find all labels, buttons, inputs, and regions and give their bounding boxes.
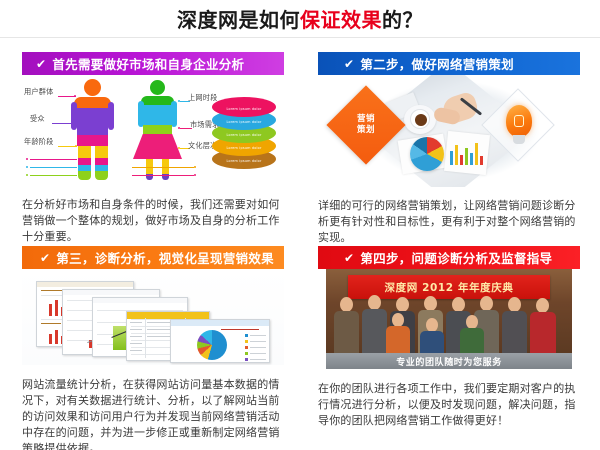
panel-2-artwork: 营销 策划	[318, 75, 580, 187]
disc-layer: Lorem ipsum dolor	[212, 97, 276, 117]
figure-skirt	[133, 134, 182, 159]
leader-line	[30, 159, 77, 160]
pie-chart-icon	[197, 330, 227, 360]
disc-label: Lorem ipsum dolor	[226, 159, 261, 163]
window-titlebar	[63, 290, 159, 295]
panel-3-artwork	[22, 269, 284, 365]
figure-leg-seg	[95, 171, 108, 180]
leader-dot	[26, 174, 28, 176]
page-title: 深度网是如何保证效果的？	[0, 0, 600, 37]
panel-1-body: 在分析好市场和自身条件的时候，我们还需要对如何营销做一个整体的规划，做好市场及自…	[22, 197, 284, 245]
disc-label: Lorem ipsum dolor	[226, 120, 261, 124]
panel-4-header-label: 第四步，问题诊断分析及监督指导	[360, 248, 552, 267]
window-titlebar	[127, 312, 209, 319]
panel-marketing-planning: ✔ 第二步，做好网络营销策划	[318, 52, 580, 237]
figure-leg-seg	[95, 146, 108, 158]
leader-line	[132, 175, 194, 176]
report-windows	[22, 269, 284, 365]
page-title-prefix: 深度网是如何	[177, 8, 300, 32]
figure-torso	[77, 108, 108, 135]
leader-dot	[74, 95, 76, 97]
figure-leg-seg	[78, 171, 91, 180]
panel-3-header: ✔ 第三，诊断分析，视觉化呈现营销效果	[22, 246, 284, 269]
figure-hip	[77, 135, 108, 146]
figure-head	[150, 80, 165, 95]
window-titlebar	[171, 320, 269, 326]
panel-diagnostic-analysis: ✔ 第三，诊断分析，视觉化呈现营销效果	[22, 246, 284, 444]
panel-2-body: 详细的可行的网络营销策划，让网络营销问题诊断分析更有针对性和目标性，更有利于对整…	[318, 198, 580, 246]
figure-leg-seg	[78, 158, 91, 165]
panel-2-header-label: 第二步，做好网络营销策划	[360, 54, 514, 73]
leader-dot	[194, 174, 196, 176]
panel-market-analysis: ✔ 首先需要做好市场和自身企业分析 用户群体 受众 年龄阶段	[22, 52, 284, 237]
mini-bar-chart	[450, 139, 486, 165]
label-age-stage: 年龄阶段	[24, 137, 54, 147]
photo-caption-text: 专业的团队随时为您服务	[396, 355, 502, 368]
leader-dot	[26, 158, 28, 160]
celebration-banner: 深度网 2012 年年度庆典	[348, 275, 550, 299]
check-icon: ✔	[344, 252, 354, 264]
badge-line-1: 营销	[357, 114, 375, 125]
audience-infographic: 用户群体 受众 年龄阶段	[22, 75, 284, 185]
figure-head	[84, 79, 101, 96]
badge-line-2: 策划	[357, 125, 375, 136]
figure-torso	[143, 105, 172, 125]
leader-line	[30, 175, 77, 176]
photo-caption-bar: 专业的团队随时为您服务	[326, 353, 572, 369]
leader-dot	[26, 166, 28, 168]
pie-chart-icon	[410, 137, 444, 171]
panel-3-header-label: 第三，诊断分析，视觉化呈现营销效果	[56, 248, 274, 267]
lightbulb-icon	[506, 105, 532, 137]
figure-leg-seg	[95, 158, 108, 165]
check-icon: ✔	[40, 252, 50, 264]
disc-label: Lorem ipsum dolor	[226, 107, 261, 111]
page-title-suffix: 的？	[382, 8, 423, 32]
title-divider	[0, 37, 600, 38]
panel-4-body: 在你的团队进行各项工作中，我们要定期对客户的执行情况进行分析，以便及时发现问题，…	[318, 381, 580, 429]
check-icon: ✔	[344, 58, 354, 70]
page-root: 深度网是如何保证效果的？ ✔ 首先需要做好市场和自身企业分析 用户群体 受众 年…	[0, 0, 600, 450]
leader-line	[30, 167, 77, 168]
report-window-pie	[170, 319, 270, 363]
stacked-discs: Lorem ipsum dolor Lorem ipsum dolor Lore…	[212, 97, 276, 171]
celebration-banner-text: 深度网 2012 年年度庆典	[385, 280, 514, 295]
planning-photo: 营销 策划	[318, 75, 580, 187]
window-titlebar	[37, 282, 133, 287]
window-titlebar	[93, 298, 187, 303]
label-audience: 受众	[30, 114, 45, 124]
leader-line	[132, 167, 194, 168]
figure-arm	[108, 102, 114, 130]
label-user-group: 用户群体	[24, 87, 54, 97]
check-icon: ✔	[36, 58, 46, 70]
page-title-highlight: 保证效果	[300, 8, 382, 32]
panel-1-artwork: 用户群体 受众 年龄阶段	[22, 75, 284, 185]
figure-waist	[143, 125, 172, 134]
panel-supervision-guidance: ✔ 第四步，问题诊断分析及监督指导 深度网 2012 年年度庆典	[318, 246, 580, 444]
panel-3-body: 网站流量统计分析，在获得网站访问量基本数据的情况下，对有关数据进行统计、分析，以…	[22, 377, 284, 450]
panel-1-header-label: 首先需要做好市场和自身企业分析	[52, 54, 244, 73]
panel-4-header: ✔ 第四步，问题诊断分析及监督指导	[318, 246, 580, 269]
leader-dot	[194, 166, 196, 168]
team-photo: 深度网 2012 年年度庆典	[326, 269, 572, 353]
figure-leg-seg	[78, 146, 91, 158]
disc-label: Lorem ipsum dolor	[226, 146, 261, 150]
disc-label: Lorem ipsum dolor	[226, 133, 261, 137]
panel-1-header: ✔ 首先需要做好市场和自身企业分析	[22, 52, 284, 75]
panel-4-artwork: 深度网 2012 年年度庆典	[318, 269, 580, 369]
coffee-cup-icon	[410, 109, 430, 129]
panel-2-header: ✔ 第二步，做好网络营销策划	[318, 52, 580, 75]
